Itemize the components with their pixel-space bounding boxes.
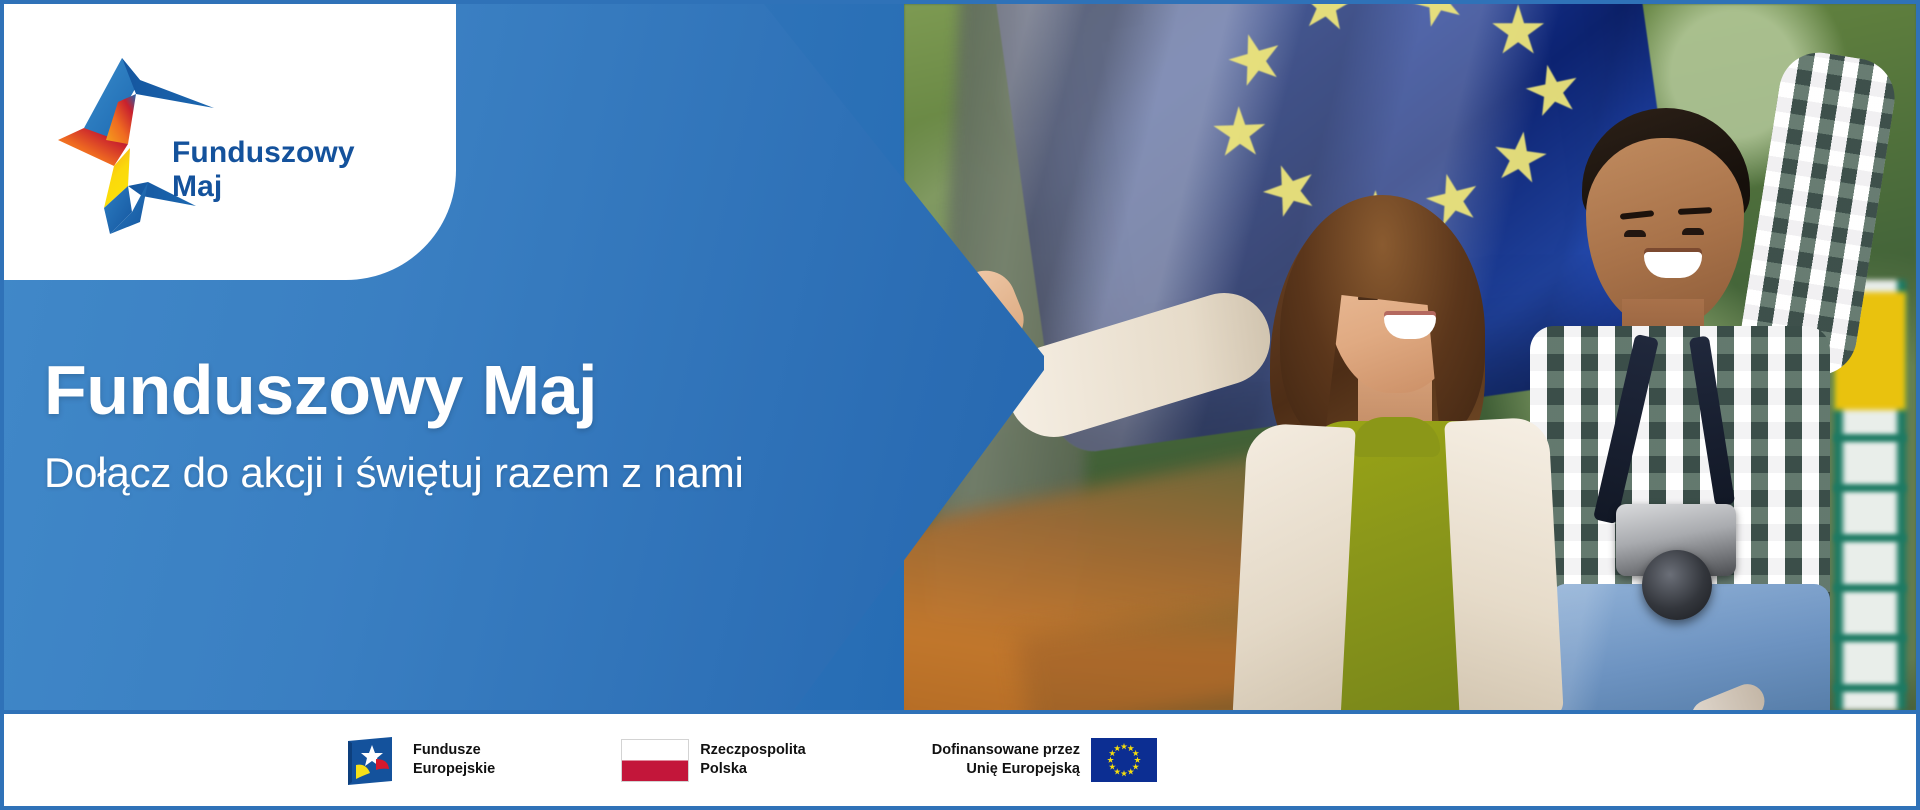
logo-fundusze-europejskie-label: Fundusze Europejskie bbox=[413, 741, 495, 778]
woman-sweater-collar bbox=[1352, 417, 1440, 457]
eu-flag-star-icon bbox=[1109, 763, 1116, 770]
brand-logo-text: Funduszowy Maj bbox=[172, 136, 355, 204]
logo-panel: Funduszowy Maj bbox=[4, 4, 456, 280]
funduszowy-maj-banner: Funduszowy Maj Funduszowy Maj Dołącz do … bbox=[0, 0, 1920, 810]
hero-copy: Funduszowy Maj Dołącz do akcji i świętuj… bbox=[44, 354, 1044, 497]
person-woman bbox=[1234, 189, 1564, 710]
page-title: Funduszowy Maj bbox=[44, 354, 1044, 427]
eu-flag-star-icon bbox=[1132, 750, 1139, 757]
eu-flag-star-icon bbox=[1127, 745, 1134, 752]
eu-flag-star-icon bbox=[1121, 743, 1128, 750]
eu-flag-star-icon bbox=[1114, 745, 1121, 752]
man-eyebrow bbox=[1678, 207, 1712, 215]
logo-rzeczpospolita-polska: Rzeczpospolita Polska bbox=[621, 739, 806, 782]
eu-flag-star-icon bbox=[1134, 757, 1141, 764]
man-eye bbox=[1682, 228, 1704, 235]
eu-flag-star-icon bbox=[1121, 770, 1128, 777]
eu-flag-star-icon bbox=[1132, 763, 1139, 770]
fundusze-europejskie-mark-icon bbox=[342, 735, 402, 785]
eu-flag-star-icon bbox=[1114, 768, 1121, 775]
eu-flag-star-icon bbox=[1127, 768, 1134, 775]
polish-flag-icon bbox=[621, 739, 689, 782]
logo-fundusze-europejskie: Fundusze Europejskie bbox=[342, 735, 495, 785]
page-subtitle: Dołącz do akcji i świętuj razem z nami bbox=[44, 449, 1044, 497]
woman-jacket-right-panel bbox=[1444, 416, 1564, 710]
hero-region: Funduszowy Maj Funduszowy Maj Dołącz do … bbox=[4, 4, 1916, 710]
man-eyebrow bbox=[1620, 210, 1654, 220]
woman-jacket-left-panel bbox=[1232, 422, 1356, 710]
camera-lens bbox=[1642, 550, 1712, 620]
brand-logo[interactable]: Funduszowy Maj bbox=[44, 36, 424, 236]
brand-logo-line1: Funduszowy bbox=[172, 136, 355, 170]
logo-rzeczpospolita-polska-label: Rzeczpospolita Polska bbox=[700, 741, 806, 778]
hero-photo bbox=[904, 4, 1916, 710]
institutional-logo-bar: Fundusze Europejskie Rzeczpospolita Pols… bbox=[4, 714, 1916, 806]
brand-logo-line2: Maj bbox=[172, 170, 355, 204]
man-eye bbox=[1624, 230, 1646, 237]
logo-dofinansowane-ue: Dofinansowane przez Unię Europejską bbox=[932, 738, 1157, 782]
logo-dofinansowane-ue-label: Dofinansowane przez Unię Europejską bbox=[932, 741, 1080, 778]
eu-flag-star-icon bbox=[1109, 750, 1116, 757]
eu-flag-icon bbox=[1091, 738, 1157, 782]
eu-flag-star-icon bbox=[1107, 757, 1114, 764]
